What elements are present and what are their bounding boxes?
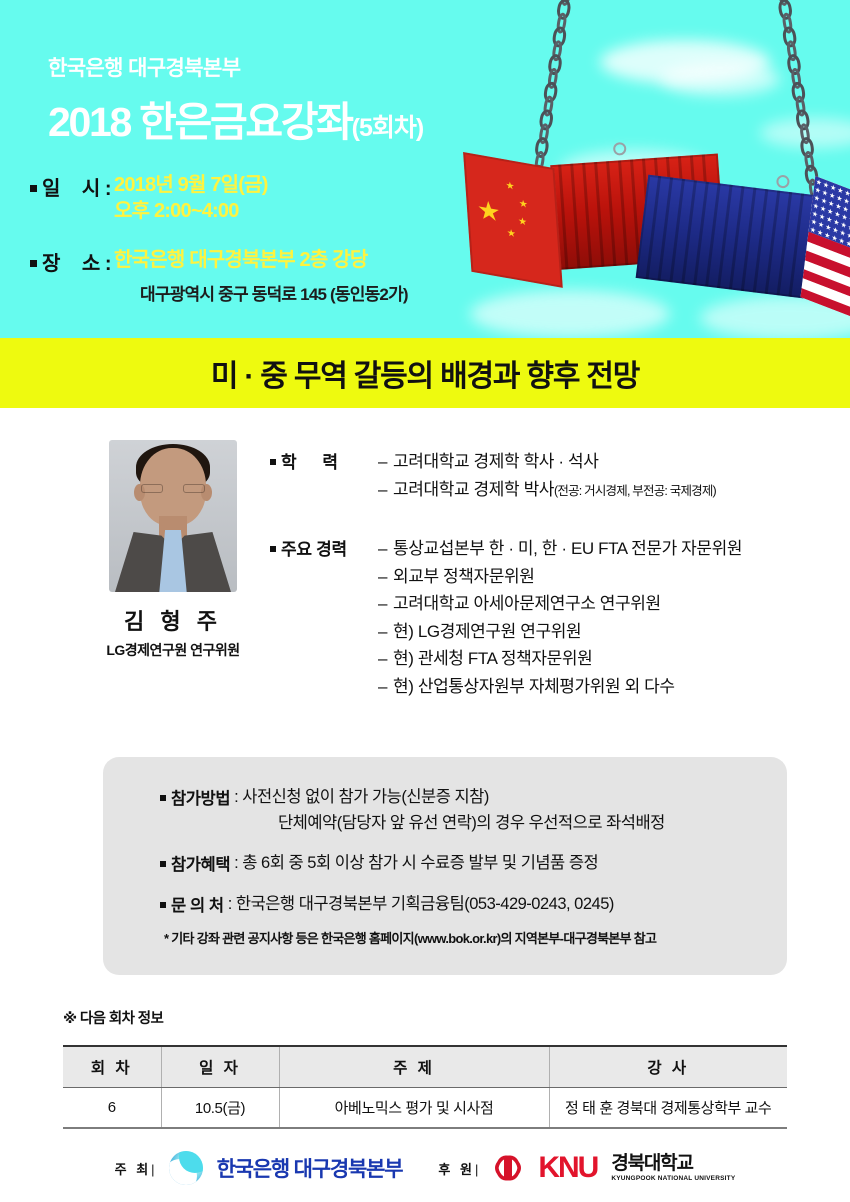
bio-list-career: –통상교섭본부 한 · 미, 한 · EU FTA 전문가 자문위원 –외교부 … <box>378 535 845 700</box>
bio-key-edu-a: 학 <box>281 453 296 472</box>
photo-eye-right <box>183 484 205 493</box>
bio-list-education: –고려대학교 경제학 학사 · 석사 –고려대학교 경제학 박사(전공: 거시경… <box>378 448 845 503</box>
bullet-square-icon <box>30 185 37 192</box>
lecture-title-band: 미 · 중 무역 갈등의 배경과 향후 전망 <box>0 338 850 408</box>
hero-title-main: 2018 한은금요강좌 <box>48 99 352 145</box>
place-label-a: 장 <box>42 253 60 275</box>
bullet-square-icon <box>270 546 276 552</box>
method-label-text: 참가방법 <box>171 790 230 808</box>
cell-topic: 아베노믹스 평가 및 시사점 <box>279 1088 549 1129</box>
bio-item-text: 외교부 정책자문위원 <box>393 567 534 586</box>
bio-item-text: 현) 관세청 FTA 정책자문위원 <box>393 649 592 668</box>
column-header-topic: 주 제 <box>279 1046 549 1088</box>
bio-item: –현) 관세청 FTA 정책자문위원 <box>378 645 845 673</box>
hero-meta: 일시 : 2018년 9월 7일(금) 오후 2:00~4:00 장소 : 한국… <box>30 172 500 305</box>
method-value-line1: : 사전신청 없이 참가 가능(신분증 지참) <box>234 785 489 811</box>
contact-row: 문 의 처 : 한국은행 대구경북본부 기획금융팀(053-429-0243, … <box>160 892 787 918</box>
host-bar: | <box>151 1162 154 1177</box>
hero-text-block: 한국은행 대구경북본부 2018 한은금요강좌(5회차) <box>48 52 518 148</box>
bio-group-career: 주요 경력 –통상교섭본부 한 · 미, 한 · EU FTA 전문가 자문위원… <box>270 535 845 700</box>
host-name: 한국은행 대구경북본부 <box>217 1153 403 1183</box>
bio-item-text: 통상교섭본부 한 · 미, 한 · EU FTA 전문가 자문위원 <box>393 539 742 558</box>
participation-info-panel: 참가방법 : 사전신청 없이 참가 가능(신분증 지참) 단체예약(담당자 앞 … <box>103 757 787 975</box>
place-label: 장소 : <box>30 247 111 276</box>
speaker-name: 김 형 주 <box>78 604 268 636</box>
contact-label: 문 의 처 <box>160 892 224 916</box>
bio-item-text: 고려대학교 아세아문제연구소 연구위원 <box>393 594 661 613</box>
bio-key-edu-b: 력 <box>322 453 337 472</box>
bok-logo-icon <box>169 1151 203 1185</box>
footer-logos: 주 최| 한국은행 대구경북본부 후 원| KNU 경북대학교 KYUNGPOO… <box>0 1143 850 1193</box>
sponsor-label-text: 후 원 <box>438 1162 475 1177</box>
datetime-value-line1: 2018년 9월 7일(금) <box>114 172 268 198</box>
method-value-line2: 단체예약(담당자 앞 유선 연락)의 경우 우선적으로 좌석배정 <box>278 811 787 837</box>
bullet-square-icon <box>160 795 166 801</box>
bullet-square-icon <box>160 861 166 867</box>
sponsor-name-ko: 경북대학교 <box>611 1154 735 1173</box>
sponsor-name-en: KYUNGPOOK NATIONAL UNIVERSITY <box>611 1175 735 1182</box>
cloud-decoration <box>660 62 780 96</box>
hero-organization: 한국은행 대구경북본부 <box>48 52 518 82</box>
bio-item: –현) 산업통상자원부 자체평가위원 외 다수 <box>378 673 845 701</box>
bio-item: –고려대학교 경제학 학사 · 석사 <box>378 448 845 476</box>
hero-title-round: (5회차) <box>352 114 424 142</box>
hero-banner: ★ ★ ★ ★ ★ ★★★★★★★★★★★★★★★★★★★★★★★★★★★ <box>0 0 850 338</box>
speaker-bio: 학력 –고려대학교 경제학 학사 · 석사 –고려대학교 경제학 박사(전공: … <box>270 448 845 700</box>
datetime-row: 일시 : 2018년 9월 7일(금) 오후 2:00~4:00 <box>30 172 500 225</box>
bullet-square-icon <box>270 459 276 465</box>
benefit-value: : 총 6회 중 5회 이상 참가 시 수료증 발부 및 기념품 증정 <box>234 851 598 877</box>
place-row: 장소 : 한국은행 대구경북본부 2층 강당 <box>30 247 500 276</box>
benefit-row: 참가혜택 : 총 6회 중 5회 이상 참가 시 수료증 발부 및 기념품 증정 <box>160 851 787 877</box>
column-header-speaker: 강 사 <box>549 1046 787 1088</box>
cell-round: 6 <box>63 1088 161 1129</box>
column-header-date: 일 자 <box>161 1046 279 1088</box>
bio-group-education: 학력 –고려대학교 경제학 학사 · 석사 –고려대학교 경제학 박사(전공: … <box>270 448 845 503</box>
sponsor-abbr: KNU <box>538 1153 597 1183</box>
benefit-label-text: 참가혜택 <box>171 856 230 874</box>
bio-item: –현) LG경제연구원 연구위원 <box>378 618 845 646</box>
bio-key-car-a: 주요 <box>281 540 312 559</box>
method-label: 참가방법 <box>160 785 230 809</box>
table-header-row: 회 차 일 자 주 제 강 사 <box>63 1046 787 1088</box>
sponsor-name-block: 경북대학교 KYUNGPOOK NATIONAL UNIVERSITY <box>611 1154 735 1182</box>
datetime-value-line2: 오후 2:00~4:00 <box>114 198 268 224</box>
lecture-title: 미 · 중 무역 갈등의 배경과 향후 전망 <box>211 351 639 395</box>
photo-eye-left <box>141 484 163 493</box>
bio-key-education: 학력 <box>270 448 378 473</box>
datetime-label-a: 일 <box>42 178 60 200</box>
bullet-square-icon <box>160 902 166 908</box>
method-row: 참가방법 : 사전신청 없이 참가 가능(신분증 지참) <box>160 785 787 811</box>
contact-label-text: 문 의 처 <box>171 897 224 915</box>
hero-title: 2018 한은금요강좌(5회차) <box>48 88 518 148</box>
place-value: 한국은행 대구경북본부 2층 강당 <box>114 247 367 273</box>
cell-date: 10.5(금) <box>161 1088 279 1129</box>
datetime-label: 일시 : <box>30 172 111 201</box>
cell-speaker: 정 태 훈 경북대 경제통상학부 교수 <box>549 1088 787 1129</box>
bio-item-text: 현) 산업통상자원부 자체평가위원 외 다수 <box>393 677 675 696</box>
bio-item-note: (전공: 거시경제, 부전공: 국제경제) <box>554 484 716 498</box>
bullet-square-icon <box>30 260 37 267</box>
place-address: 대구광역시 중구 동덕로 145 (동인동2가) <box>140 280 500 305</box>
bio-key-career: 주요 경력 <box>270 535 378 560</box>
bio-key-car-b: 경력 <box>316 540 347 559</box>
bio-item: –외교부 정책자문위원 <box>378 563 845 591</box>
bio-item-text: 고려대학교 경제학 박사 <box>393 480 554 499</box>
table-row: 6 10.5(금) 아베노믹스 평가 및 시사점 정 태 훈 경북대 경제통상학… <box>63 1088 787 1129</box>
column-header-round: 회 차 <box>63 1046 161 1088</box>
host-label: 주 최| <box>115 1159 155 1178</box>
speaker-block: 김 형 주 LG경제연구원 연구위원 <box>78 440 268 660</box>
bio-item-text: 고려대학교 경제학 학사 · 석사 <box>393 452 598 471</box>
bio-item-text: 현) LG경제연구원 연구위원 <box>393 622 581 641</box>
speaker-affiliation: LG경제연구원 연구위원 <box>78 640 268 660</box>
next-session-heading: ※ 다음 회차 정보 <box>63 1007 163 1028</box>
sponsor-label: 후 원| <box>438 1159 478 1178</box>
contact-value: : 한국은행 대구경북본부 기획금융팀(053-429-0243, 0245) <box>228 892 614 918</box>
bio-item: –고려대학교 경제학 박사(전공: 거시경제, 부전공: 국제경제) <box>378 476 845 504</box>
speaker-photo <box>109 440 237 592</box>
bio-item: –고려대학교 아세아문제연구소 연구위원 <box>378 590 845 618</box>
next-session-table: 회 차 일 자 주 제 강 사 6 10.5(금) 아베노믹스 평가 및 시사점… <box>63 1045 787 1129</box>
panel-note: * 기타 강좌 관련 공지사항 등은 한국은행 홈페이지(www.bok.or.… <box>164 928 787 947</box>
datetime-label-b: 시 <box>82 178 100 200</box>
host-label-text: 주 최 <box>115 1162 152 1177</box>
datetime-values: 2018년 9월 7일(금) 오후 2:00~4:00 <box>111 172 268 225</box>
place-label-b: 소 <box>82 253 100 275</box>
knu-emblem-icon <box>492 1152 524 1184</box>
sponsor-bar: | <box>475 1162 478 1177</box>
benefit-label: 참가혜택 <box>160 851 230 875</box>
bio-item: –통상교섭본부 한 · 미, 한 · EU FTA 전문가 자문위원 <box>378 535 845 563</box>
